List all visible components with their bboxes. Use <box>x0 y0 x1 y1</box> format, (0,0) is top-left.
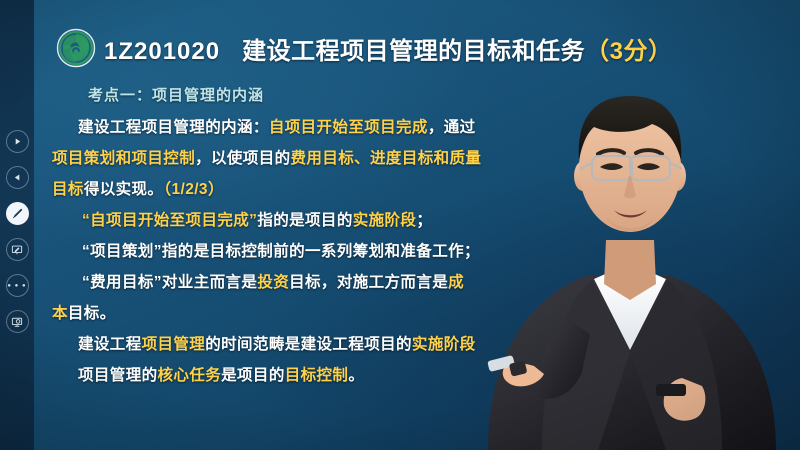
more-options-icon[interactable]: ● ● ● <box>6 274 29 297</box>
previous-arrow-icon[interactable] <box>6 166 29 189</box>
body-text: 建设工程项目管理的内涵： <box>78 119 269 136</box>
highlighted-text: （1/2/3） <box>163 181 224 198</box>
body-text: ； <box>416 212 432 229</box>
body-text: 。 <box>348 367 364 384</box>
highlighted-text: 目标 <box>52 181 84 198</box>
body-text: “项目策划”指的是目标控制前的一系列筹划和准备工作； <box>82 243 480 260</box>
body-text: 的时间范畴是建设工程项目的 <box>205 336 412 353</box>
highlighted-text: 本 <box>52 305 68 322</box>
body-text: 指的是项目的 <box>257 212 352 229</box>
body-text: 目标，对施工方而言是 <box>289 274 448 291</box>
course-logo <box>56 28 96 68</box>
whiteboard-icon[interactable] <box>6 238 29 261</box>
body-text: ，以使项目的 <box>195 150 290 167</box>
slide-body-line: 本目标。 <box>52 298 612 329</box>
slide-title-score: （3分） <box>585 38 672 65</box>
body-text: 建设工程 <box>78 336 142 353</box>
body-text: 目标。 <box>68 305 116 322</box>
slide-body: 建设工程项目管理的内涵：自项目开始至项目完成，通过项目策划和项目控制，以使项目的… <box>52 112 612 391</box>
slide-body-line: “项目策划”指的是目标控制前的一系列筹划和准备工作； <box>52 236 612 267</box>
highlighted-text: 核心任务 <box>158 367 222 384</box>
more-options-dots: ● ● ● <box>7 283 26 289</box>
highlighted-text: 投资 <box>257 274 289 291</box>
slide-body-line: “自项目开始至项目完成”指的是项目的实施阶段； <box>52 205 612 236</box>
slide-title: 1Z201020建设工程项目管理的目标和任务（3分） <box>104 31 672 66</box>
body-text: 是项目的 <box>221 367 285 384</box>
slide-body-line: 目标得以实现。（1/2/3） <box>52 174 612 205</box>
highlighted-text: 实施阶段 <box>353 212 417 229</box>
body-text: “费用目标”对业主而言是 <box>82 274 257 291</box>
slide-title-text: 建设工程项目管理的目标和任务 <box>242 38 585 65</box>
slide-body-line: 项目管理的核心任务是项目的目标控制。 <box>52 360 612 391</box>
slide-body-line: 项目策划和项目控制，以使项目的费用目标、进度目标和质量 <box>52 143 612 174</box>
highlighted-text: 成 <box>448 274 464 291</box>
slide-title-code: 1Z201020 <box>104 38 220 65</box>
slide-body-line: 建设工程项目管理的时间范畴是建设工程项目的实施阶段 <box>52 329 612 360</box>
highlighted-text: 实施阶段 <box>412 336 476 353</box>
next-arrow-icon[interactable] <box>6 130 29 153</box>
screenshot-icon[interactable] <box>6 310 29 333</box>
slide-subheading: 考点一：项目管理的内涵 <box>88 84 264 105</box>
highlighted-text: 项目策划和项目控制 <box>52 150 195 167</box>
lecture-video-frame: ● ● ● 1Z201020建设工程 <box>0 0 800 450</box>
highlighted-text: 项目管理 <box>142 336 206 353</box>
highlighted-text: 费用目标、进度目标和质量 <box>291 150 482 167</box>
body-text: 项目管理的 <box>78 367 158 384</box>
body-text: 得以实现。 <box>84 181 164 198</box>
highlighted-text: “自项目开始至项目完成” <box>82 212 257 229</box>
tool-sidebar: ● ● ● <box>0 0 34 450</box>
slide-body-line: “费用目标”对业主而言是投资目标，对施工方而言是成 <box>52 267 612 298</box>
pen-icon[interactable] <box>6 202 29 225</box>
highlighted-text: 目标控制 <box>285 367 349 384</box>
highlighted-text: 自项目开始至项目完成 <box>269 119 428 136</box>
body-text: ，通过 <box>428 119 476 136</box>
slide-body-line: 建设工程项目管理的内涵：自项目开始至项目完成，通过 <box>52 112 612 143</box>
